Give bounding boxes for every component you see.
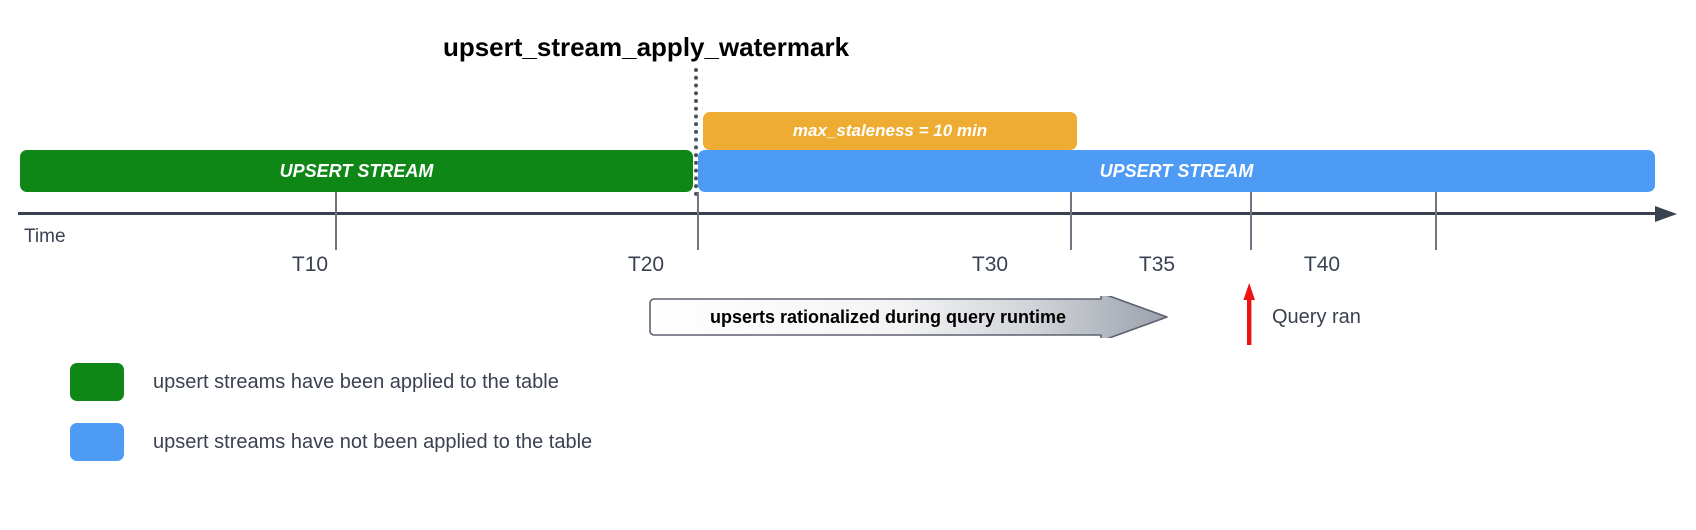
query-ran-marker [1243,283,1255,345]
upsert-stream-applied-bar: UPSERT STREAM [20,150,693,192]
axis-tick-label-t40: T40 [1304,253,1340,277]
upsert-stream-not-applied-label: UPSERT STREAM [1100,161,1254,182]
axis-tick-t35 [1250,192,1252,250]
banner-label: upserts rationalized during query runtim… [649,296,1127,338]
axis-tick-t30 [1070,192,1072,250]
legend-swatch-blue [70,423,124,461]
upsert-stream-timeline-diagram: upsert_stream_apply_watermark max_stalen… [0,0,1696,530]
upserts-rationalized-banner: upserts rationalized during query runtim… [649,296,1170,338]
axis-tick-t20 [697,192,699,250]
time-axis-line [18,212,1668,215]
max-staleness-label: max_staleness = 10 min [793,121,987,141]
max-staleness-badge: max_staleness = 10 min [703,112,1077,150]
time-axis-caption: Time [24,226,66,248]
upsert-stream-applied-label: UPSERT STREAM [280,161,434,182]
legend: upsert streams have been applied to the … [70,352,592,472]
legend-label-applied: upsert streams have been applied to the … [153,371,559,394]
legend-item-applied: upsert streams have been applied to the … [70,352,592,412]
query-ran-label: Query ran [1272,306,1361,329]
axis-tick-label-t20: T20 [628,253,664,277]
upsert-stream-not-applied-bar: UPSERT STREAM [698,150,1655,192]
axis-tick-t40 [1435,192,1437,250]
page-title: upsert_stream_apply_watermark [0,32,1292,63]
legend-item-not-applied: upsert streams have not been applied to … [70,412,592,472]
axis-tick-label-t30: T30 [972,253,1008,277]
time-axis-arrowhead-icon [1655,206,1677,222]
legend-swatch-green [70,363,124,401]
red-up-arrow-icon [1243,283,1255,345]
axis-tick-t10 [335,192,337,250]
axis-tick-label-t35: T35 [1139,253,1175,277]
axis-tick-label-t10: T10 [292,253,328,277]
legend-label-not-applied: upsert streams have not been applied to … [153,431,592,454]
